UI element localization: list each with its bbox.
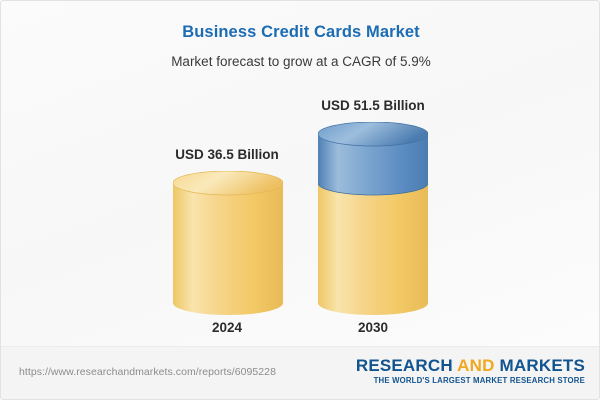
logo-word-and: AND [457, 356, 494, 375]
cylinder-2024 [173, 171, 283, 315]
cylinder-2030 [318, 122, 428, 315]
logo-wordmark: RESEARCH AND MARKETS [356, 357, 585, 375]
footer: https://www.researchandmarkets.com/repor… [1, 346, 600, 399]
source-url-link[interactable]: https://www.researchandmarkets.com/repor… [19, 366, 276, 378]
value-label-2024: USD 36.5 Billion [117, 147, 337, 162]
research-and-markets-logo[interactable]: RESEARCH AND MARKETS THE WORLD'S LARGEST… [356, 357, 585, 385]
market-forecast-chart-card: Business Credit Cards Market Market fore… [0, 0, 600, 400]
logo-tagline: THE WORLD'S LARGEST MARKET RESEARCH STOR… [356, 376, 585, 385]
logo-word-research: RESEARCH [356, 356, 453, 375]
logo-word-markets: MARKETS [500, 356, 585, 375]
value-label-2030: USD 51.5 Billion [263, 98, 483, 113]
category-label-2030: 2030 [263, 320, 483, 335]
plot-area: USD 36.5 Billion [1, 1, 600, 349]
